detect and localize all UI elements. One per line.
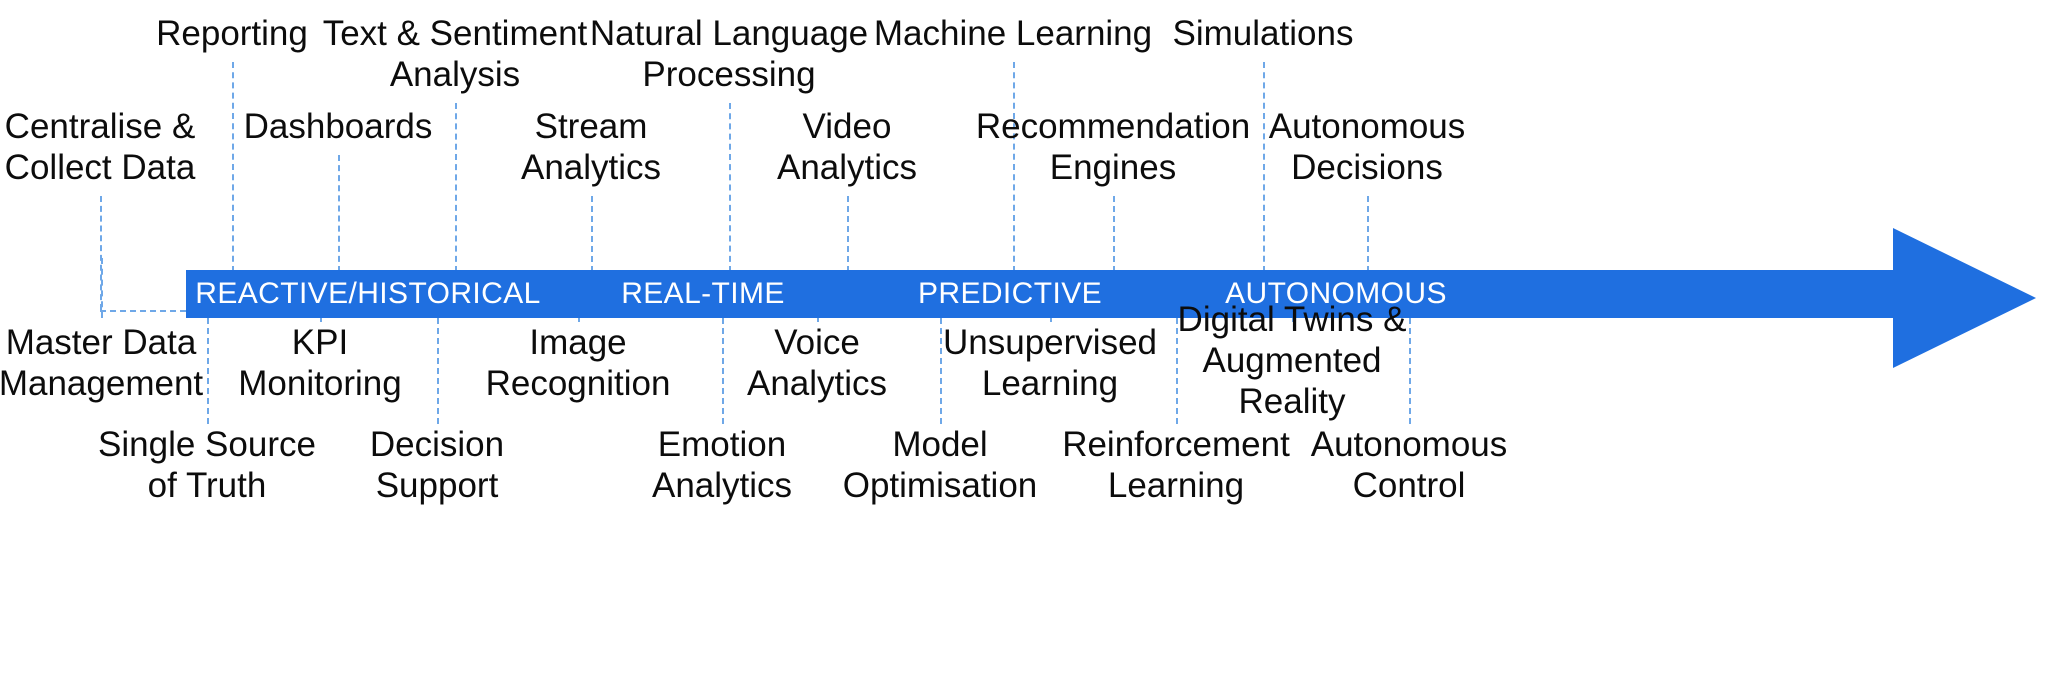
- label-digital-twins-augmented-reality[interactable]: Digital Twins & Augmented Reality: [1072, 300, 1512, 423]
- connector-recommendation-engines: [1113, 196, 1115, 272]
- maturity-arrow-diagram: REACTIVE/HISTORICALREAL-TIMEPREDICTIVEAU…: [0, 0, 2048, 690]
- connector-image-recognition: [578, 318, 580, 322]
- connector-unsupervised-learning: [1050, 318, 1052, 322]
- connector-kpi-monitoring: [320, 318, 322, 322]
- connector-voice-analytics: [817, 318, 819, 322]
- label-autonomous-decisions[interactable]: Autonomous Decisions: [1147, 107, 1587, 189]
- connector-stream-analytics: [591, 196, 593, 272]
- label-autonomous-control[interactable]: Autonomous Control: [1189, 425, 1629, 507]
- connector-dashboards: [338, 155, 340, 272]
- connector-autonomous-decisions: [1367, 196, 1369, 272]
- label-simulations[interactable]: Simulations: [1043, 14, 1483, 55]
- connector-video-analytics: [847, 196, 849, 272]
